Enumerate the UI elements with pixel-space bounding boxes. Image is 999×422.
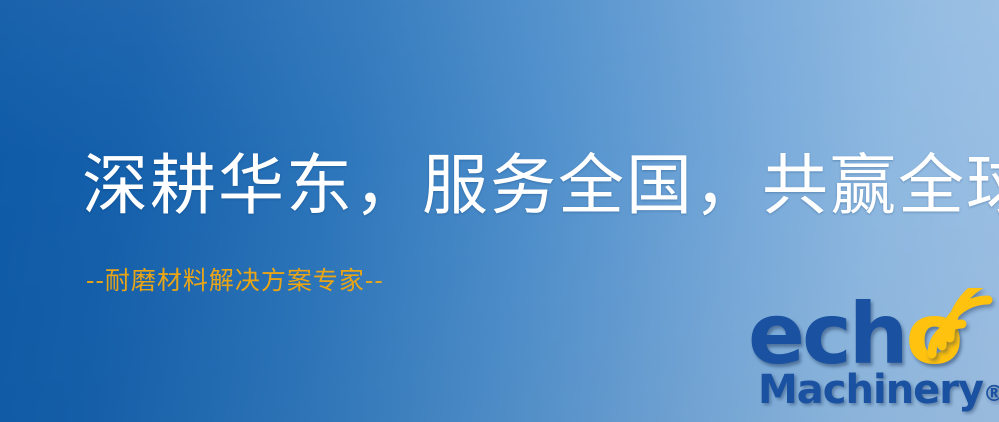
registered-trademark-mark: ® [983, 382, 999, 407]
banner-headline: 深耕华东，服务全国，共赢全球 [82, 146, 999, 226]
hero-banner: 深耕华东，服务全国，共赢全球 --耐磨材料解决方案专家-- echo Machi… [0, 0, 999, 422]
banner-subtitle: --耐磨材料解决方案专家-- [86, 264, 384, 298]
company-logo[interactable]: echo Machinery® [748, 292, 999, 422]
logo-tagline: Machinery® [758, 368, 999, 417]
logo-tagline-text: Machinery [758, 367, 983, 413]
signal-waves-icon [926, 288, 999, 360]
